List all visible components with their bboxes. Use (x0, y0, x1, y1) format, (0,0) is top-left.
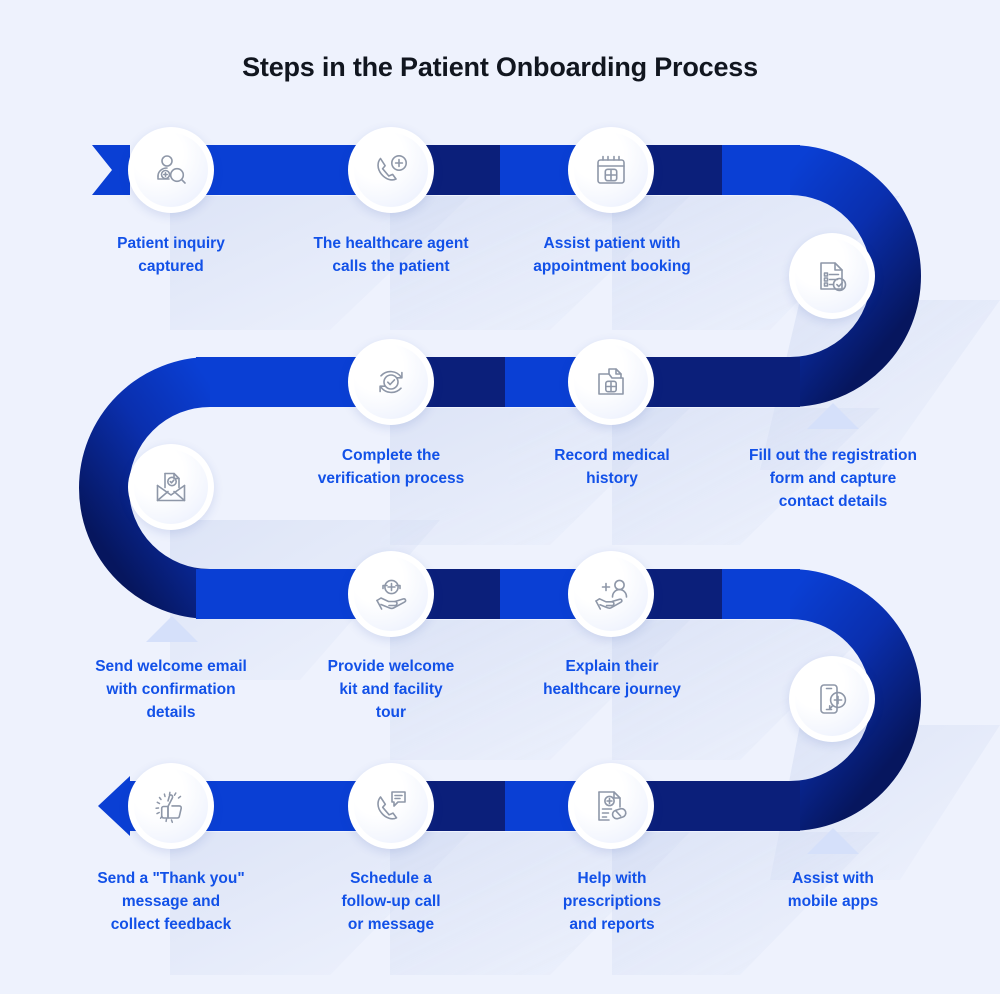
mobile-medical-icon (795, 662, 869, 736)
email-check-icon (134, 450, 208, 524)
prescription-report-icon (574, 769, 648, 843)
phone-chat-icon (354, 769, 428, 843)
step-label-10: Assist with mobile apps (742, 868, 924, 914)
step-label-11: Help with prescriptions and reports (522, 868, 702, 937)
step-label-3: Assist patient with appointment booking (495, 233, 729, 279)
step-label-4: Fill out the registration form and captu… (723, 445, 943, 514)
step-label-1: Patient inquiry captured (71, 233, 271, 279)
step-node-11[interactable] (568, 763, 654, 849)
step-label-6: Complete the verification process (288, 445, 494, 491)
step-node-2[interactable] (348, 127, 434, 213)
form-check-icon (795, 239, 869, 313)
step-label-8: Provide welcome kit and facility tour (295, 656, 487, 725)
verify-refresh-icon (354, 345, 428, 419)
step-label-7: Send welcome email with confirmation det… (68, 656, 274, 725)
step-label-13: Send a "Thank you" message and collect f… (74, 868, 268, 937)
step-node-4[interactable] (789, 233, 875, 319)
step-node-3[interactable] (568, 127, 654, 213)
step-node-13[interactable] (128, 763, 214, 849)
step-node-1[interactable] (128, 127, 214, 213)
step-node-8[interactable] (348, 551, 434, 637)
step-node-6[interactable] (348, 339, 434, 425)
infographic-canvas: Steps in the Patient Onboarding Process (0, 0, 1000, 994)
step-node-9[interactable] (568, 551, 654, 637)
thumbs-up-icon (134, 769, 208, 843)
patient-search-icon (134, 133, 208, 207)
step-node-7[interactable] (128, 444, 214, 530)
accent-triangle (807, 403, 859, 429)
step-node-5[interactable] (568, 339, 654, 425)
hand-medical-kit-icon (354, 557, 428, 631)
accent-triangle (146, 616, 198, 642)
step-node-10[interactable] (789, 656, 875, 742)
step-node-12[interactable] (348, 763, 434, 849)
step-label-2: The healthcare agent calls the patient (281, 233, 501, 279)
calendar-medical-icon (574, 133, 648, 207)
phone-medical-icon (354, 133, 428, 207)
step-label-5: Record medical history (512, 445, 712, 491)
step-label-9: Explain their healthcare journey (512, 656, 712, 702)
step-label-12: Schedule a follow-up call or message (301, 868, 481, 937)
accent-triangle (807, 828, 859, 854)
hand-patient-icon (574, 557, 648, 631)
medical-folder-icon (574, 345, 648, 419)
